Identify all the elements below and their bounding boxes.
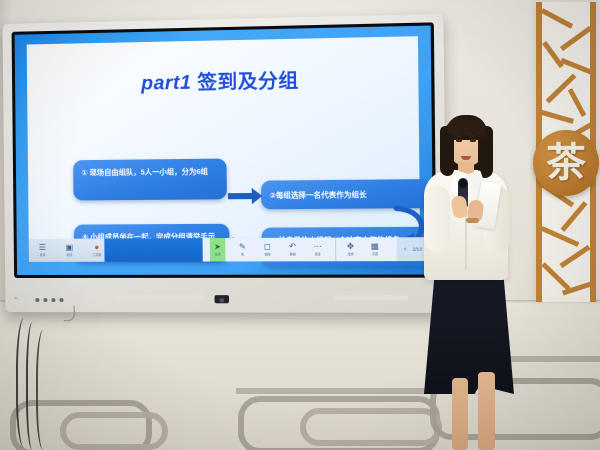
palette-icon[interactable]: ● 工具箱 [89, 244, 104, 257]
more-label: 更多 [315, 252, 321, 256]
menu-icon[interactable]: ☰ 目录 [35, 244, 50, 257]
wall-ribbon-2 [60, 412, 168, 450]
presenter-leg-right [478, 372, 495, 450]
presenter-brow-right [470, 135, 477, 137]
grid-icon[interactable]: ▦ 页面 [367, 243, 383, 256]
arrow-right-icon [228, 193, 253, 199]
flow-box-2-text: 每组选择一名代表作为组长 [276, 188, 367, 200]
presenter-watch [466, 218, 479, 223]
cursor-icon[interactable]: ➤ 选择 [210, 238, 226, 261]
presenter-skirt [424, 272, 514, 394]
wall-cable-3 [36, 330, 54, 450]
slide-title-prefix: part1 [141, 73, 191, 95]
presenter-hair-fringe [448, 120, 485, 135]
pen-label: 笔 [241, 252, 244, 256]
presenter-arm-left [424, 186, 450, 252]
flow-box-1-marker: ① [81, 168, 87, 177]
toolbar-left-group[interactable]: ☰ 目录 ▣ 批注 ● 工具箱 [29, 244, 105, 257]
flow-box-1[interactable]: ① 现场自由组队，5人一小组，分为6组 [73, 159, 227, 201]
grid-label: 页面 [372, 252, 378, 256]
slide-content-area: part1 签到及分组 ① 现场自由组队，5人一小组，分为6组 ② 每组选择一名… [27, 36, 421, 251]
toolbar-tools-group[interactable]: ➤ 选择 ✎ 笔 ◻ 擦除 ↶ 撤销 [203, 237, 397, 261]
eraser-icon[interactable]: ◻ 擦除 [260, 243, 276, 256]
presenter-leg-left [452, 378, 468, 450]
flow-box-1-text: 现场自由组队，5人一小组，分为6组 [89, 167, 207, 177]
page-indicator: 2/13 [413, 247, 422, 252]
tea-character: 茶 [533, 138, 599, 188]
toolbar-tools-group-2[interactable]: ✥ 漫游 ▦ 页面 [335, 237, 389, 261]
page-prev-button[interactable]: ‹ [404, 246, 406, 252]
undo-icon[interactable]: ↶ 撤销 [285, 243, 301, 256]
bezel-ports[interactable] [35, 298, 63, 302]
menu-label: 目录 [39, 253, 45, 257]
slide-title-main: 签到及分组 [197, 71, 299, 94]
window-icon[interactable]: ▣ 批注 [62, 244, 77, 257]
presenter-brow-left [455, 135, 462, 137]
eraser-label: 擦除 [264, 252, 270, 256]
undo-label: 撤销 [290, 252, 296, 256]
move-label: 漫游 [347, 252, 353, 256]
pen-icon[interactable]: ✎ 笔 [235, 243, 251, 256]
slide-canvas[interactable]: part1 签到及分组 ① 现场自由组队，5人一小组，分为6组 ② 每组选择一名… [15, 26, 434, 275]
move-icon[interactable]: ✥ 漫游 [342, 243, 358, 256]
bezel-camera-icon [214, 295, 229, 303]
toolbar-blue-strip: ➤ 选择 ✎ 笔 ◻ 擦除 ↶ 撤销 [104, 237, 433, 262]
tea-medallion: 茶 [533, 130, 599, 196]
palette-label: 工具箱 [92, 253, 101, 257]
bezel-brand-label: ●● [14, 296, 18, 300]
interactive-flat-panel[interactable]: part1 签到及分组 ① 现场自由组队，5人一小组，分为6组 ② 每组选择一名… [2, 14, 446, 313]
presenter-eye-left [456, 139, 462, 142]
presenter-eye-right [470, 139, 476, 142]
bezel-strip-right [334, 295, 408, 300]
window-label: 批注 [67, 253, 73, 257]
slide-toolbar[interactable]: ☰ 目录 ▣ 批注 ● 工具箱 ➤ [29, 237, 421, 262]
more-icon[interactable]: ⋯ 更多 [310, 243, 326, 256]
bezel-strip-left [116, 295, 204, 300]
cursor-label: 选择 [215, 252, 221, 256]
classroom-scene: 茶 part1 签到及分组 ① 现场自由组队，5人一小组，分为6组 ② 每组选择… [0, 0, 600, 450]
slide-title: part1 签到及分组 [27, 63, 419, 97]
